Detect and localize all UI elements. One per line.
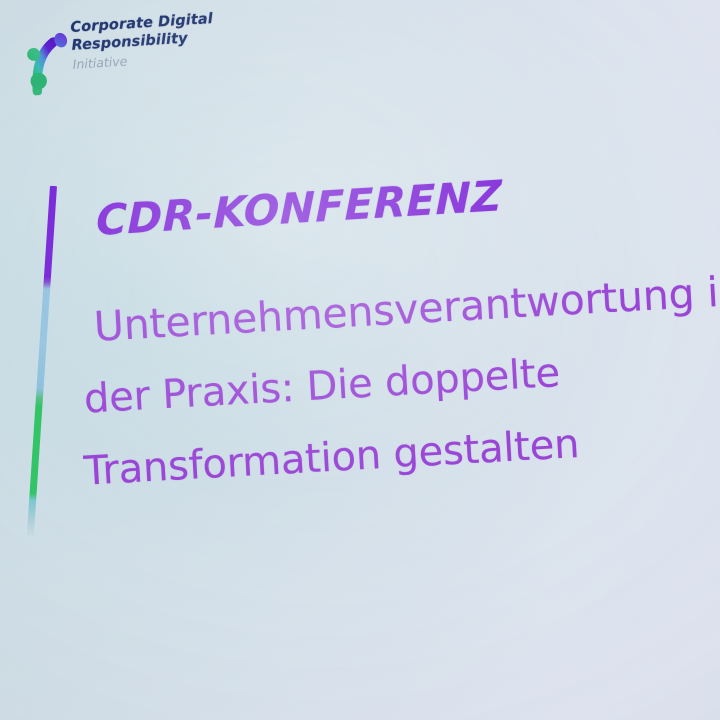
slide-headline: CDR-KONFERENZ: [96, 171, 502, 245]
slide-photo-stage: Corporate Digital Responsibility Initiat…: [0, 0, 720, 720]
cdr-initiative-logo: Corporate Digital Responsibility Initiat…: [22, 9, 227, 111]
cdr-initiative-logo-mark: [24, 27, 74, 96]
gradient-accent-bar: [27, 186, 57, 536]
logo-wordmark: Corporate Digital Responsibility Initiat…: [70, 10, 223, 73]
slide-subtitle: Unternehmensverantwortung in der Praxis:…: [74, 256, 720, 508]
